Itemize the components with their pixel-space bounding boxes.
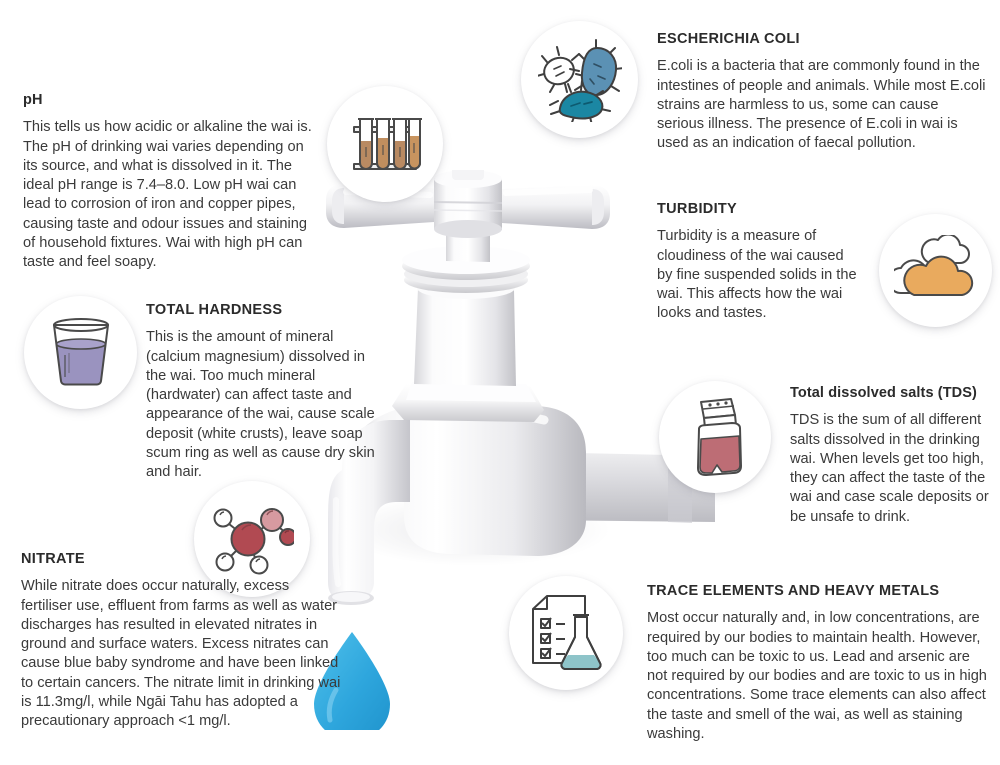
section-escherichia-coli-body: E.coli is a bacteria that are commonly f… <box>657 57 987 153</box>
section-nitrate-body: While nitrate does occur naturally, exce… <box>21 577 341 731</box>
section-turbidity-body: Turbidity is a measure of cloudiness of … <box>657 227 857 323</box>
test-tubes-icon <box>327 86 443 202</box>
bacteria-icon <box>521 21 638 138</box>
glass-of-water-icon <box>24 296 137 409</box>
section-total-dissolved-salts-heading: Total dissolved salts (TDS) <box>790 385 990 402</box>
salt-shaker-icon <box>659 381 771 493</box>
section-nitrate-heading: NITRATE <box>21 551 341 568</box>
section-turbidity: TURBIDITY Turbidity is a measure of clou… <box>657 201 857 324</box>
section-escherichia-coli: ESCHERICHIA COLI E.coli is a bacteria th… <box>657 31 987 154</box>
section-nitrate: NITRATE While nitrate does occur natural… <box>21 551 341 731</box>
section-ph-heading: pH <box>23 92 321 109</box>
checklist-flask-icon <box>509 576 623 690</box>
section-total-hardness-heading: TOTAL HARDNESS <box>146 302 384 319</box>
section-trace-elements-heading: TRACE ELEMENTS AND HEAVY METALS <box>647 583 992 600</box>
section-turbidity-heading: TURBIDITY <box>657 201 857 218</box>
section-trace-elements-body: Most occur naturally and, in low concent… <box>647 609 992 744</box>
faucet-stem <box>414 277 516 386</box>
faucet-collar <box>392 382 544 422</box>
section-total-dissolved-salts-body: TDS is the sum of all different salts di… <box>790 411 990 527</box>
section-ph: pH This tells us how acidic or alkaline … <box>23 92 321 272</box>
cloud-icon <box>879 214 992 327</box>
section-total-hardness-body: This is the amount of mineral (calcium m… <box>146 328 384 482</box>
section-ph-body: This tells us how acidic or alkaline the… <box>23 118 321 272</box>
section-trace-elements: TRACE ELEMENTS AND HEAVY METALS Most occ… <box>647 583 992 744</box>
section-total-dissolved-salts: Total dissolved salts (TDS) TDS is the s… <box>790 385 990 527</box>
infographic-canvas: pH This tells us how acidic or alkaline … <box>0 0 1000 765</box>
section-total-hardness: TOTAL HARDNESS This is the amount of min… <box>146 302 384 482</box>
section-escherichia-coli-heading: ESCHERICHIA COLI <box>657 31 987 48</box>
